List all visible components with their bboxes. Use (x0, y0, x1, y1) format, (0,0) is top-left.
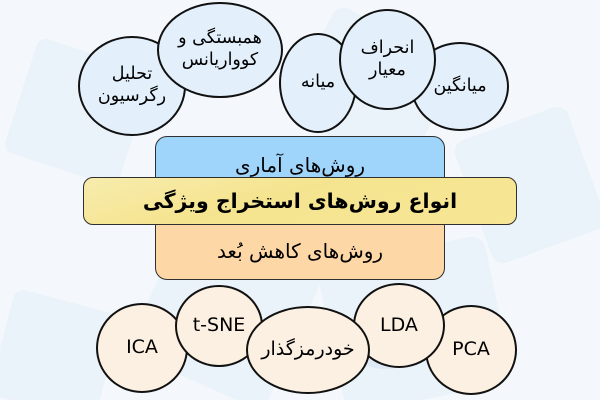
bubble-label: PCA (433, 338, 509, 362)
bubble-autoencoder[interactable]: خودرمزگذار (246, 306, 370, 394)
bar-label: روش‌های کاهش بُعد (217, 239, 383, 263)
bubble-label: خودرمزگذار (254, 338, 362, 362)
bubble-label: ICA (104, 336, 180, 360)
bubble-label: همبستگی و کوواریانس (165, 28, 275, 72)
bubble-label: انحراف معیار (347, 38, 428, 82)
bubble-label: LDA (361, 314, 437, 338)
page-title: انواع روش‌های استخراج ویژگی (143, 189, 457, 213)
bar-dimension-reduction-methods[interactable]: روش‌های کاهش بُعد (155, 222, 445, 280)
bar-feature-extraction-title[interactable]: انواع روش‌های استخراج ویژگی (83, 177, 517, 225)
diagram-canvas: L S تحلیل رگرسیون همبستگی و کوواریانس می… (0, 0, 600, 400)
bubble-correlation-covariance[interactable]: همبستگی و کوواریانس (157, 2, 283, 98)
bubble-standard-deviation[interactable]: انحراف معیار (339, 9, 436, 110)
bubble-label: میانه (287, 72, 349, 94)
bubble-ica[interactable]: ICA (96, 303, 188, 393)
bar-label: روش‌های آماری (235, 153, 365, 177)
bubble-label: t-SNE (183, 314, 255, 338)
